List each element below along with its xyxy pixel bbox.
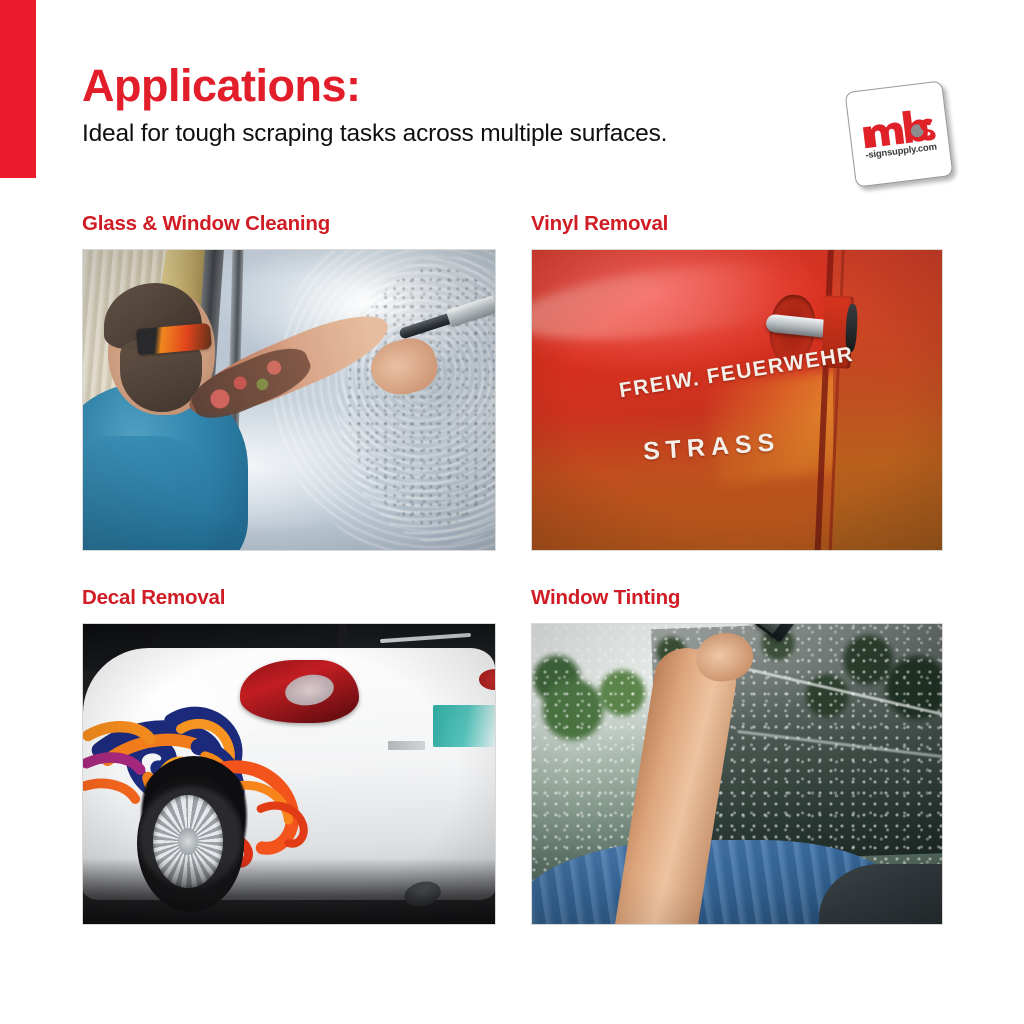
photo3-license-plate: [433, 705, 496, 747]
page-subtitle: Ideal for tough scraping tasks across mu…: [82, 119, 842, 148]
applications-infographic: Applications: Ideal for tough scraping t…: [0, 0, 1024, 1024]
photo-glass-window-cleaning: [82, 249, 496, 551]
application-card-decal-removal: Decal Removal: [82, 588, 496, 925]
applications-grid: Glass & Window Cleaning: [82, 214, 943, 944]
photo-decal-removal: [82, 623, 496, 925]
page-title: Applications:: [82, 62, 842, 109]
photo2-adjacent-door-panel: [833, 250, 943, 550]
card-title-glass-window-cleaning: Glass & Window Cleaning: [82, 214, 496, 235]
logo-inner: -signsupply.com: [846, 82, 953, 187]
red-accent-bar: [0, 0, 36, 178]
header: Applications: Ideal for tough scraping t…: [82, 62, 842, 149]
photo3-wheel-hub: [178, 828, 199, 855]
photo3-model-badge: [388, 741, 425, 750]
application-card-glass-window-cleaning: Glass & Window Cleaning: [82, 214, 496, 551]
photo1-shirt-sleeve: [82, 436, 207, 551]
photo-vinyl-removal: FREIW. FEUERWEHR STRASS: [531, 249, 943, 551]
photo3-ground-shadow: [83, 858, 495, 924]
application-card-window-tinting: Window Tinting: [531, 588, 945, 925]
photo-window-tinting: [531, 623, 943, 925]
card-title-window-tinting: Window Tinting: [531, 588, 945, 609]
application-card-vinyl-removal: Vinyl Removal FREIW. FEUERWEHR STRASS: [531, 214, 945, 551]
card-title-vinyl-removal: Vinyl Removal: [531, 214, 945, 235]
brand-logo[interactable]: -signsupply.com: [846, 80, 956, 190]
logo-card: -signsupply.com: [845, 80, 954, 187]
card-title-decal-removal: Decal Removal: [82, 588, 496, 609]
